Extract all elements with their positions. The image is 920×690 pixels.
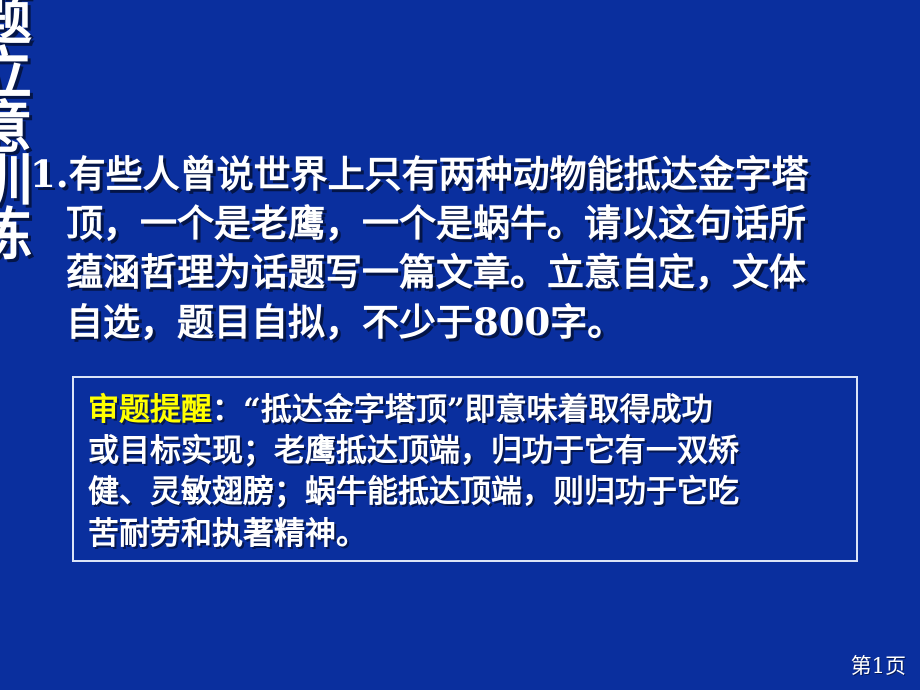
- hint-colon: ：: [212, 392, 243, 428]
- hint-line-1: 审题提醒：“抵达金字塔顶”即意味着取得成功: [88, 390, 842, 431]
- prompt-line-3: 蕴涵哲理为话题写一篇文章。立意自定，文体: [30, 248, 910, 297]
- hint-line-1-text: “抵达金字塔顶”即意味着取得成功: [243, 392, 713, 428]
- slide-canvas: 题 立 意 训 练 1.有些人曾说世界上只有两种动物能抵达金字塔 顶，一个是老鹰…: [0, 0, 920, 690]
- side-title-char-5: 练: [0, 209, 32, 263]
- vertical-side-title: 题 立 意 训 练: [0, 0, 28, 263]
- hint-line-4: 苦耐劳和执著精神。: [88, 514, 842, 555]
- prompt-paragraph: 1.有些人曾说世界上只有两种动物能抵达金字塔 顶，一个是老鹰，一个是蜗牛。请以这…: [30, 150, 910, 347]
- side-title-char-3: 意: [0, 102, 32, 156]
- prompt-line-1: 1.有些人曾说世界上只有两种动物能抵达金字塔: [30, 150, 910, 199]
- prompt-number: 1.: [30, 152, 69, 196]
- side-title-char-4: 训: [0, 155, 32, 209]
- side-title-char-1: 题: [0, 0, 32, 48]
- hint-label: 审题提醒: [88, 392, 212, 428]
- hint-callout-box: 审题提醒：“抵达金字塔顶”即意味着取得成功 或目标实现；老鹰抵达顶端，归功于它有…: [72, 376, 858, 562]
- hint-line-3: 健、灵敏翅膀；蜗牛能抵达顶端，则归功于它吃: [88, 472, 842, 513]
- prompt-line-4: 自选，题目自拟，不少于800字。: [30, 298, 910, 347]
- page-number-label: 第1页: [851, 650, 906, 680]
- side-title-char-2: 立: [0, 48, 32, 102]
- prompt-line-1-text: 有些人曾说世界上只有两种动物能抵达金字塔: [69, 152, 809, 196]
- prompt-line-2: 顶，一个是老鹰，一个是蜗牛。请以这句话所: [30, 199, 910, 248]
- hint-line-2: 或目标实现；老鹰抵达顶端，归功于它有一双矫: [88, 431, 842, 472]
